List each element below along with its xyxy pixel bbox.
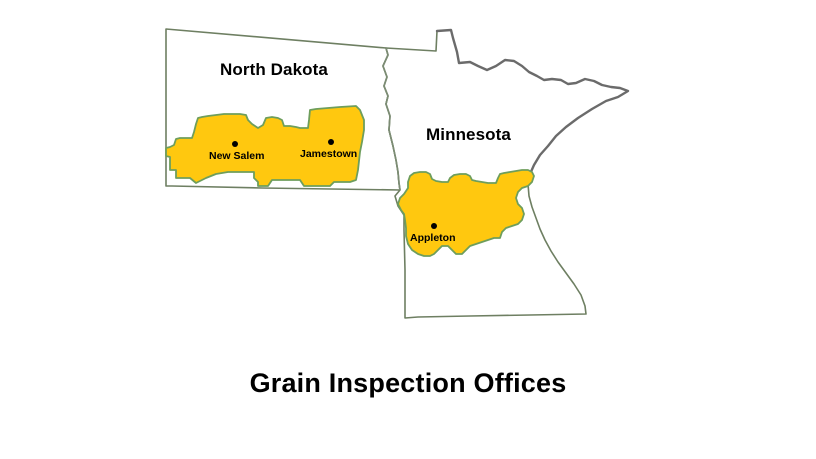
city-label-appleton: Appleton bbox=[410, 232, 456, 244]
city-dot-appleton[interactable] bbox=[431, 223, 437, 229]
city-label-jamestown: Jamestown bbox=[300, 148, 357, 160]
city-label-new-salem: New Salem bbox=[209, 150, 264, 162]
city-dot-jamestown[interactable] bbox=[328, 139, 334, 145]
map-title: Grain Inspection Offices bbox=[0, 368, 816, 399]
city-dot-new-salem[interactable] bbox=[232, 141, 238, 147]
map-canvas: North Dakota Minnesota New Salem Jamesto… bbox=[0, 0, 816, 459]
state-label-north-dakota: North Dakota bbox=[220, 60, 328, 80]
state-label-minnesota: Minnesota bbox=[426, 125, 511, 145]
